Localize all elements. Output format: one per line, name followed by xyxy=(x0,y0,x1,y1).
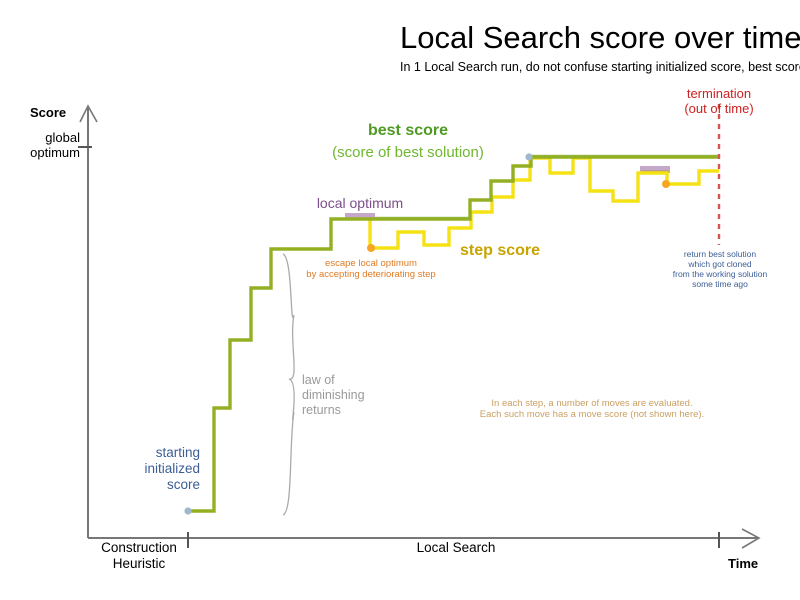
best-score-subtitle: (score of best solution) xyxy=(332,144,484,162)
diminishing-returns-brace xyxy=(283,254,294,515)
best-score-line xyxy=(188,157,719,511)
page-title: Local Search score over time xyxy=(400,20,800,57)
x-axis-label: Time xyxy=(728,556,758,571)
diminishing-returns-label: law of diminishing returns xyxy=(302,373,365,417)
local-search-score-chart xyxy=(0,0,800,600)
starting-initialized-score-text: starting initialized score xyxy=(60,445,200,493)
best-solution-clone-dot xyxy=(525,153,532,160)
best-score-title: best score xyxy=(368,122,448,141)
x-phase-local-search: Local Search xyxy=(417,540,496,556)
y-axis-label: Score xyxy=(30,105,66,120)
starting-score-dot xyxy=(184,507,191,514)
x-phase-construction-heuristic: Construction Heuristic xyxy=(101,540,177,572)
deteriorating-step-dot-right xyxy=(662,180,670,188)
local-optimum-label: local optimum xyxy=(317,195,403,212)
escape-local-optimum-note: escape local optimum by accepting deteri… xyxy=(306,258,435,280)
deteriorating-step-dot-left xyxy=(367,244,375,252)
page-subtitle: In 1 Local Search run, do not confuse st… xyxy=(400,60,800,75)
diagram-canvas: Local Search score over time In 1 Local … xyxy=(0,0,800,600)
return-best-solution-note: return best solution which got cloned fr… xyxy=(673,249,768,289)
termination-note: termination (out of time) xyxy=(684,86,753,117)
move-score-note: In each step, a number of moves are eval… xyxy=(480,398,704,420)
step-score-title: step score xyxy=(460,242,540,261)
global-optimum-tick-label: global optimum xyxy=(18,130,80,161)
step-score-line xyxy=(370,158,719,248)
